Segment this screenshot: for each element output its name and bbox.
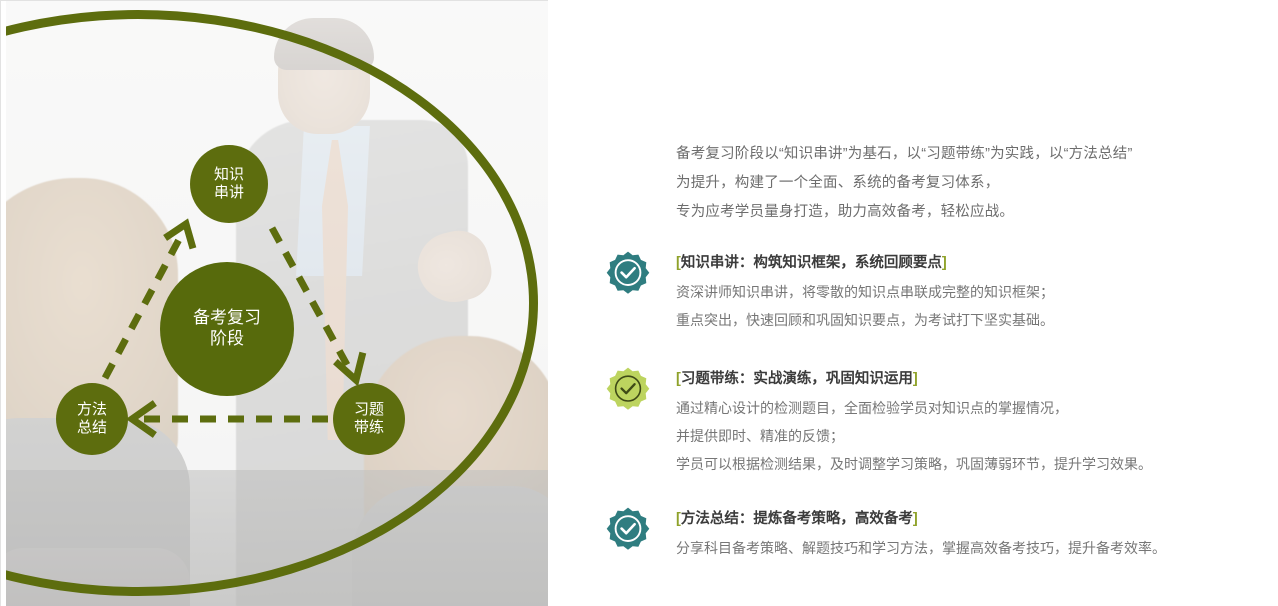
title-close-bracket: ]	[913, 511, 918, 527]
diagram-node-knowledge-line2: 串讲	[214, 184, 244, 202]
badge-scallop-shape	[607, 508, 650, 550]
title-text: 方法总结：提炼备考策略，高效备考	[681, 511, 913, 527]
diagram-node-knowledge[interactable]: 知识 串讲	[190, 145, 268, 223]
content-column: 备考复习阶段以“知识串讲”为基石，以“习题带练”为实践，以“方法总结” 为提升，…	[600, 0, 1278, 606]
title-text: 习题带练：实战演练，巩固知识运用	[681, 371, 913, 387]
cycle-diagram: 备考复习 阶段 知识 串讲 习题 带练 方法 总结	[0, 0, 548, 606]
diagram-node-methods-line2: 总结	[77, 419, 107, 437]
section-knowledge-title: [知识串讲：构筑知识框架，系统回顾要点]	[676, 250, 1266, 276]
diagram-node-knowledge-line1: 知识	[214, 166, 244, 184]
section-methods-title: [方法总结：提炼备考策略，高效备考]	[676, 506, 1266, 532]
intro-text: 备考复习阶段以“知识串讲”为基石，以“习题带练”为实践，以“方法总结” 为提升，…	[676, 140, 1256, 227]
title-text: 知识串讲：构筑知识框架，系统回顾要点	[681, 255, 942, 271]
check-badge-icon	[606, 250, 650, 294]
title-close-bracket: ]	[942, 255, 947, 271]
diagram-node-center[interactable]: 备考复习 阶段	[160, 262, 294, 396]
title-close-bracket: ]	[913, 371, 918, 387]
section-knowledge-text: [知识串讲：构筑知识框架，系统回顾要点] 资深讲师知识串讲，将零散的知识点串联成…	[676, 250, 1266, 334]
diagram-node-methods[interactable]: 方法 总结	[56, 383, 128, 455]
section-exercise-text: [习题带练：实战演练，巩固知识运用] 通过精心设计的检测题目，全面检验学员对知识…	[676, 366, 1266, 478]
intro-paragraph: 备考复习阶段以“知识串讲”为基石，以“习题带练”为实践，以“方法总结” 为提升，…	[676, 140, 1256, 227]
check-badge-icon	[606, 366, 650, 410]
section-exercise-body: 通过精心设计的检测题目，全面检验学员对知识点的掌握情况， 并提供即时、精准的反馈…	[676, 394, 1266, 478]
section-methods-text: [方法总结：提炼备考策略，高效备考] 分享科目备考策略、解题技巧和学习方法，掌握…	[676, 506, 1266, 562]
check-badge-green-icon	[606, 366, 650, 410]
section-methods-body: 分享科目备考策略、解题技巧和学习方法，掌握高效备考技巧，提升备考效率。	[676, 534, 1266, 562]
diagram-node-exercise-line2: 带练	[354, 419, 384, 437]
section-exercise-title: [习题带练：实战演练，巩固知识运用]	[676, 366, 1266, 392]
diagram-node-exercise[interactable]: 习题 带练	[333, 383, 405, 455]
badge-scallop-shape	[607, 252, 650, 294]
diagram-node-center-line1: 备考复习	[193, 308, 261, 329]
badge-scallop-shape	[607, 368, 650, 410]
check-badge-teal-icon	[606, 506, 650, 550]
diagram-node-exercise-line1: 习题	[354, 401, 384, 419]
section-knowledge-body: 资深讲师知识串讲，将零散的知识点串联成完整的知识框架； 重点突出，快速回顾和巩固…	[676, 278, 1266, 334]
diagram-node-center-line2: 阶段	[210, 329, 244, 350]
page-root: 备考复习 阶段 知识 串讲 习题 带练 方法 总结 备考复习阶段以“知识串讲”为…	[0, 0, 1278, 606]
diagram-node-methods-line1: 方法	[77, 401, 107, 419]
left-visual-panel: 备考复习 阶段 知识 串讲 习题 带练 方法 总结	[0, 0, 548, 606]
check-badge-icon	[606, 506, 650, 550]
check-badge-teal-icon	[606, 250, 650, 294]
